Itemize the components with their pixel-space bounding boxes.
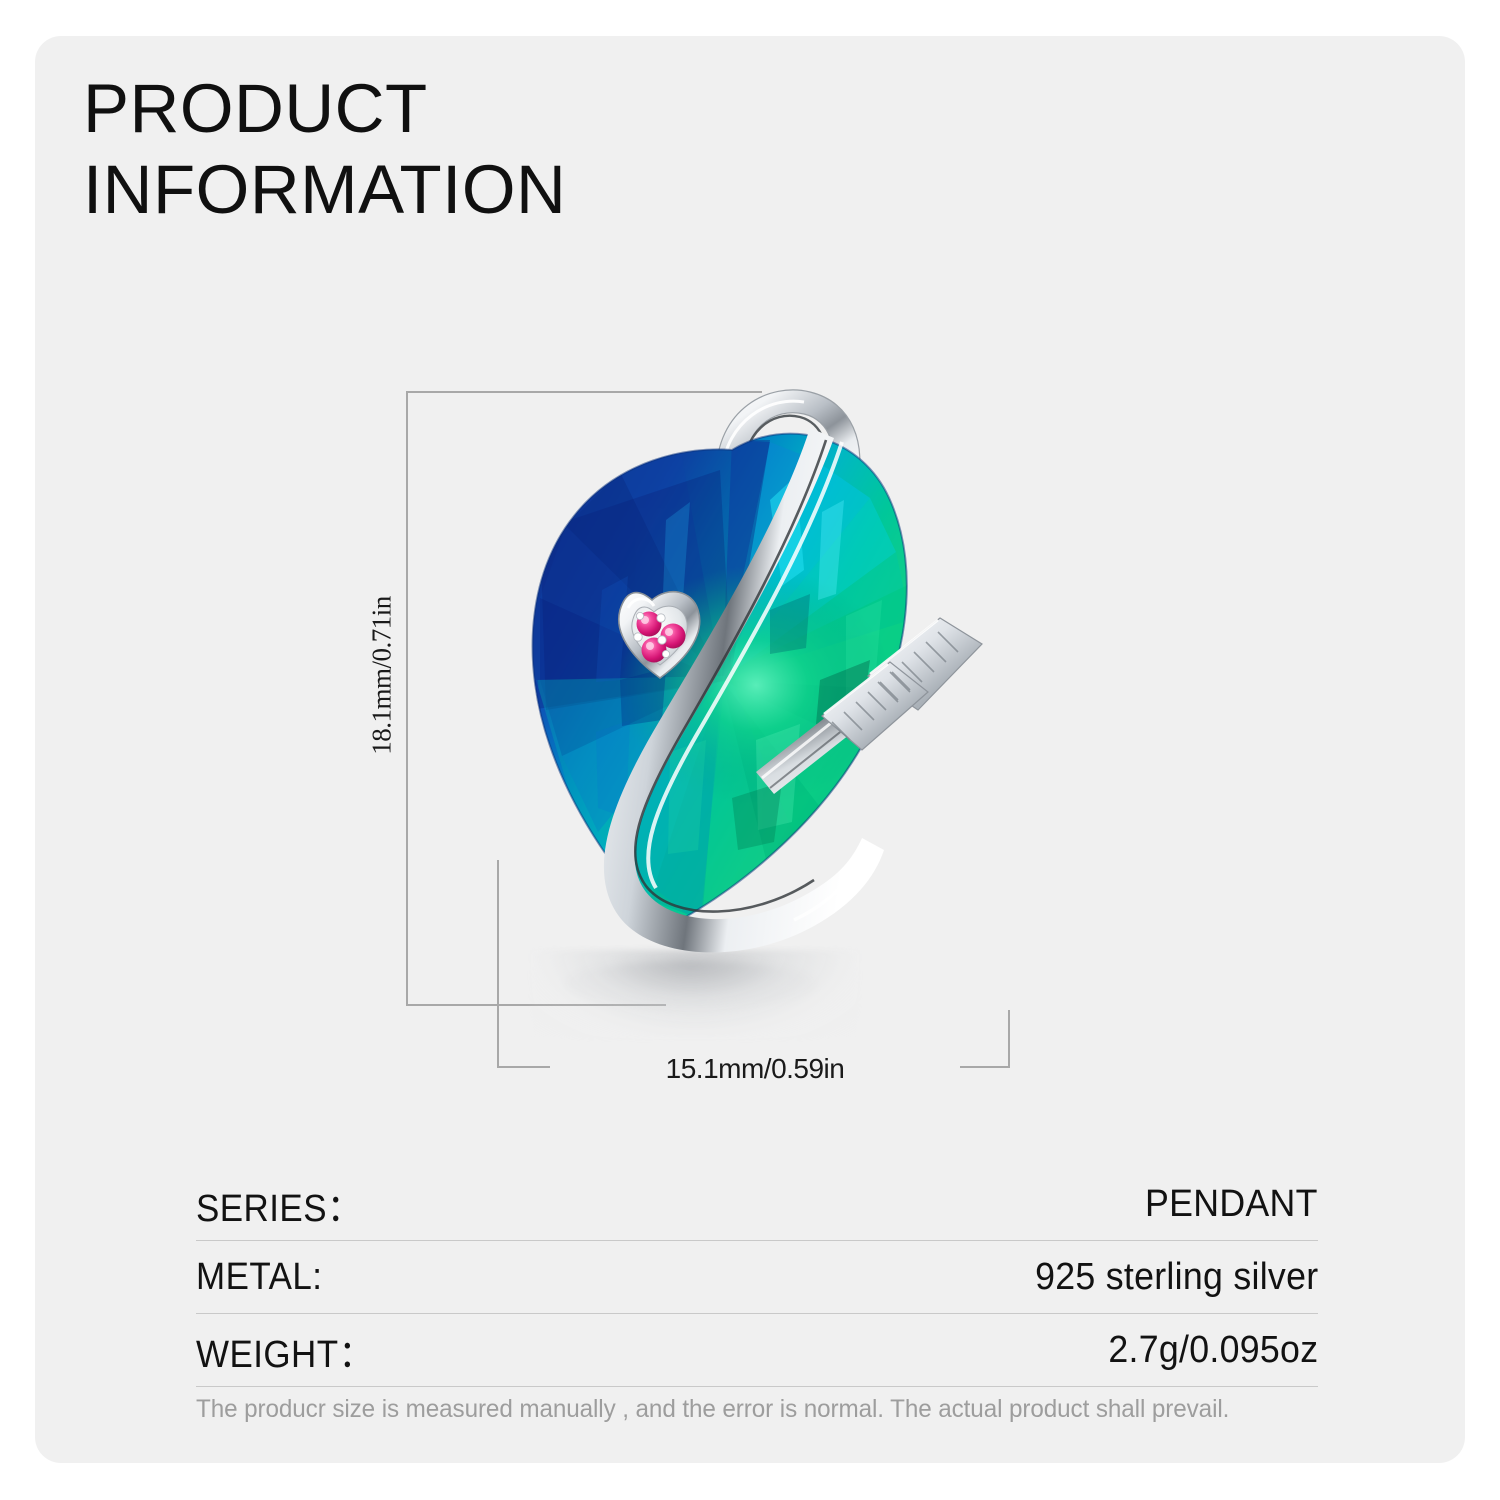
table-row: SERIES： PENDANT [196, 1168, 1318, 1241]
spec-value-metal: 925 sterling silver [1035, 1256, 1318, 1299]
height-dimension-label: 18.1mm/0.71in [367, 566, 398, 786]
spec-value-series: PENDANT [1145, 1183, 1318, 1226]
width-bracket-right-tick [1008, 1010, 1010, 1068]
product-information-page: PRODUCT INFORMATION 18.1mm/0.71in 15.1mm… [0, 0, 1500, 1500]
product-image-stage: 18.1mm/0.71in 15.1mm/0.59in [330, 360, 1110, 1120]
pendant-artwork [470, 380, 1000, 1000]
table-row: WEIGHT： 2.7g/0.095oz [196, 1314, 1318, 1387]
page-title-line-2: INFORMATION [83, 149, 883, 230]
page-title-line-1: PRODUCT [83, 68, 883, 149]
spec-table: SERIES： PENDANT METAL: 925 sterling silv… [196, 1168, 1318, 1387]
page-title: PRODUCT INFORMATION [83, 68, 883, 231]
width-dimension-label: 15.1mm/0.59in [550, 1050, 960, 1088]
spec-value-weight: 2.7g/0.095oz [1108, 1329, 1318, 1372]
height-bracket-line [406, 391, 408, 1006]
spec-key-metal: METAL: [196, 1256, 322, 1299]
spec-key-series: SERIES： [196, 1177, 362, 1232]
spec-disclaimer-note: The producr size is measured manually , … [196, 1395, 1292, 1424]
table-row: METAL: 925 sterling silver [196, 1241, 1318, 1314]
pendant-illustration [470, 380, 1000, 1000]
spec-key-weight: WEIGHT： [196, 1323, 374, 1378]
